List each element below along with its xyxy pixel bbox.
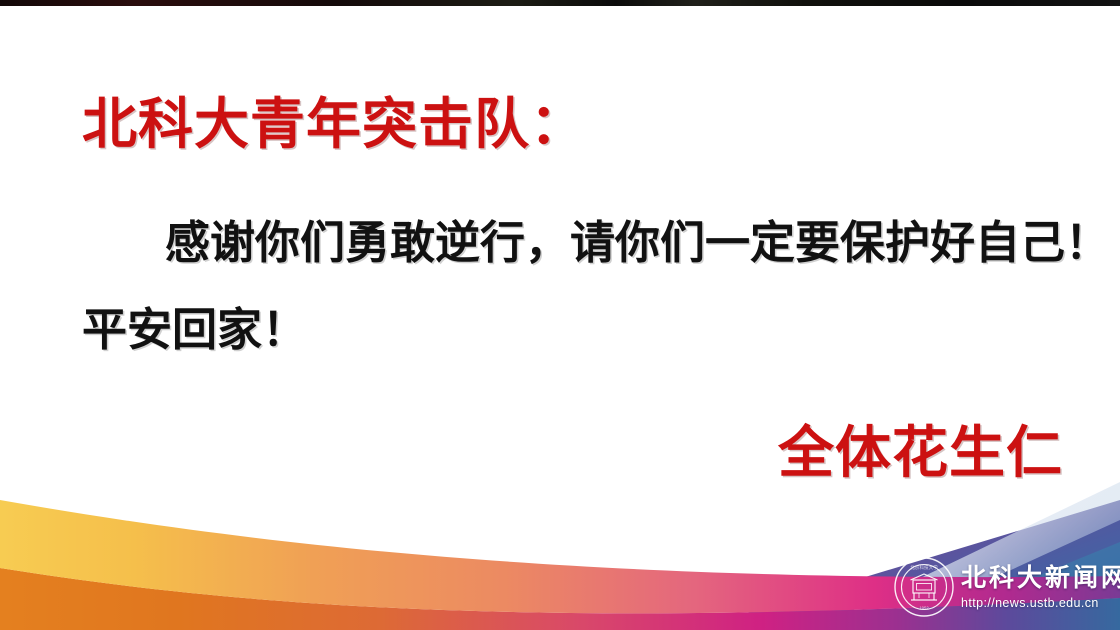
slide-text-content: 北科大青年突击队： 感谢你们勇敢逆行，请你们一定要保护好自己！ 平安回家！ 全体… [0,0,1120,630]
watermark-site-name: 北科大新闻网 [961,565,1120,593]
ustb-seal-icon: 北京科技大学 1952 [893,556,955,618]
page-title: 北科大青年突击队： [82,96,586,154]
watermark-url: http://news.ustb.edu.cn [961,596,1120,611]
body-line-2: 平安回家！ [82,305,307,355]
watermark-text-block: 北科大新闻网 http://news.ustb.edu.cn [961,563,1120,611]
body-line-1: 感谢你们勇敢逆行，请你们一定要保护好自己！ [165,218,1110,268]
watermark: 北京科技大学 1952 北科大新闻网 http://news.ustb.edu.… [893,552,1120,622]
slide-canvas: 北科大青年突击队： 感谢你们勇敢逆行，请你们一定要保护好自己！ 平安回家！ 全体… [0,0,1120,630]
top-crop-strip-edge [0,6,1120,8]
svg-text:北京科技大学: 北京科技大学 [910,564,938,571]
signature-text: 全体花生仁 [778,424,1063,483]
svg-text:1952: 1952 [919,606,929,611]
